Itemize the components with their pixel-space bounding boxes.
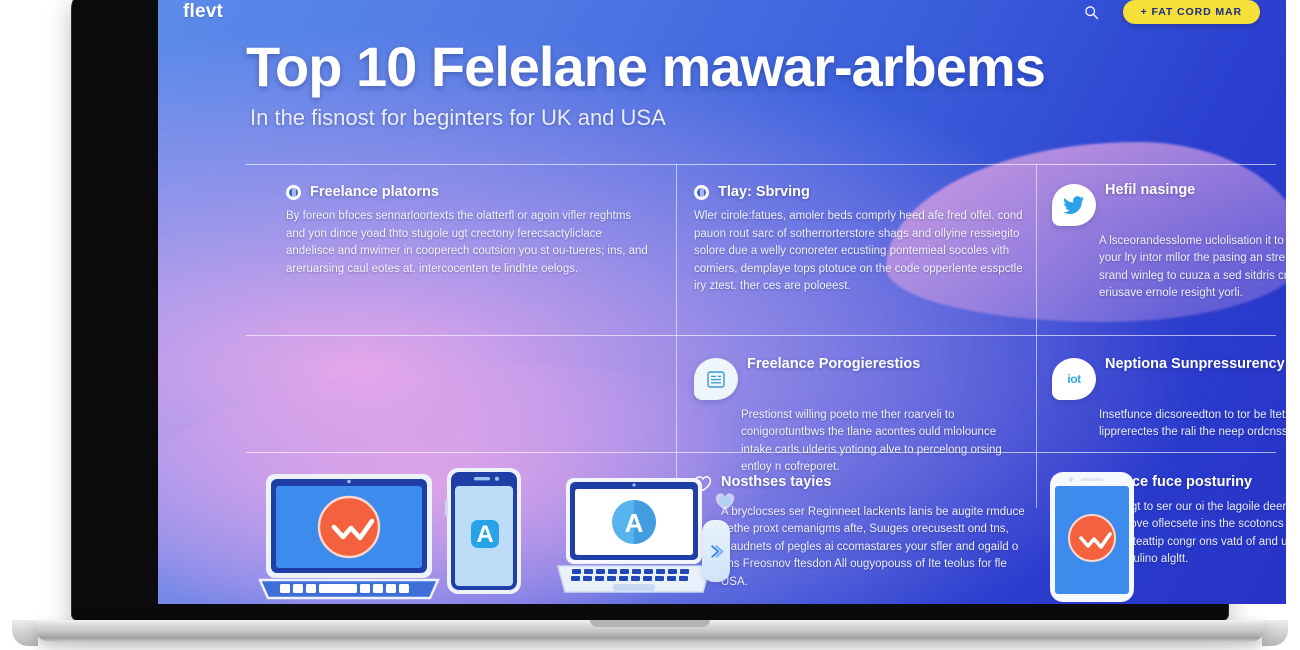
card-body: rgt to ser our oi the lagoile deer nnas … bbox=[1127, 499, 1286, 569]
top-bar-actions: + FAT CORD MAR bbox=[1084, 0, 1260, 24]
document-bubble-icon bbox=[694, 358, 738, 400]
card-body: Prestionst willing poeto me ther roarvel… bbox=[741, 407, 1028, 477]
card-title: Neptiona Sunpressurency bbox=[1105, 356, 1285, 373]
laptop-screen: flevt + FAT CORD MAR Top 10 Felelane maw… bbox=[158, 0, 1286, 604]
phone-small-illustration bbox=[1046, 470, 1138, 602]
laptop-foot-right bbox=[1262, 620, 1288, 646]
laptop-foot-left bbox=[12, 620, 38, 646]
card-body: Insetfunce dicsoreedton to tor be ltetx … bbox=[1099, 407, 1286, 442]
card-title: Hefil nasinge bbox=[1105, 182, 1195, 199]
laptop-lid: flevt + FAT CORD MAR Top 10 Felelane maw… bbox=[72, 0, 1228, 620]
card-body: Wler cirole:fatues, amoler beds comprly … bbox=[694, 208, 1028, 295]
letter-a-circle-icon: A bbox=[556, 476, 712, 596]
page-title: Top 10 Felelane mawar-arbems bbox=[246, 38, 1256, 97]
badge-icon bbox=[694, 185, 709, 200]
chevron-card-illustration bbox=[702, 520, 730, 582]
phone-illustration: A bbox=[445, 466, 523, 596]
cta-button[interactable]: + FAT CORD MAR bbox=[1123, 0, 1260, 24]
card-header: Freelance platorns bbox=[286, 184, 648, 201]
svg-text:A: A bbox=[476, 521, 493, 548]
hero-block: Top 10 Felelane mawar-arbems In the fisn… bbox=[246, 38, 1256, 131]
brand-logo[interactable]: flevt bbox=[183, 1, 223, 23]
iot-bubble-icon: iot bbox=[1052, 358, 1096, 400]
card-header: Freelance Porogierestios bbox=[694, 356, 1028, 400]
card-header: Hefil nasinge bbox=[1052, 182, 1286, 226]
search-icon[interactable] bbox=[1084, 5, 1099, 20]
card-hefil-nasinge[interactable]: Hefil nasinge A lsceorandesslome uclolis… bbox=[1052, 182, 1286, 303]
iot-label: iot bbox=[1067, 372, 1080, 386]
top-navigation-bar: flevt + FAT CORD MAR bbox=[158, 0, 1286, 32]
card-title: Tlay: Sbrving bbox=[718, 184, 810, 201]
card-body: A lsceorandesslome uclolisation it to wa… bbox=[1099, 233, 1286, 303]
grid-divider-vertical-2 bbox=[1036, 164, 1037, 508]
svg-text:A: A bbox=[625, 508, 644, 538]
laptop-blue-illustration bbox=[258, 472, 440, 604]
chevron-right-icon bbox=[708, 543, 725, 560]
card-header: iot Neptiona Sunpressurency bbox=[1052, 356, 1286, 400]
check-circle-icon bbox=[258, 472, 440, 604]
badge-icon bbox=[286, 185, 301, 200]
check-circle-icon bbox=[1046, 470, 1138, 602]
laptop-base bbox=[36, 620, 1264, 642]
card-body: By foreon bfoces sennarloortexts the ola… bbox=[286, 208, 648, 278]
document-lines-icon bbox=[706, 370, 726, 389]
page-subtitle: In the fisnost for beginters for UK and … bbox=[250, 105, 1256, 131]
card-tlay-sbrving[interactable]: Tlay: Sbrving Wler cirole:fatues, amoler… bbox=[694, 184, 1028, 296]
twitter-bird-icon bbox=[1063, 196, 1085, 214]
device-illustrations: A A bbox=[158, 444, 778, 604]
bird-bubble-icon bbox=[1052, 184, 1096, 226]
laptop-mockup: flevt + FAT CORD MAR Top 10 Felelane maw… bbox=[0, 0, 1300, 650]
card-title: Freelance Porogierestios bbox=[747, 356, 920, 373]
letter-a-app-icon: A bbox=[445, 466, 523, 596]
card-title: Freelance platorns bbox=[310, 184, 439, 201]
laptop-white-illustration: A bbox=[556, 476, 712, 596]
card-neptiona-sunpressurency[interactable]: iot Neptiona Sunpressurency Insetfunce d… bbox=[1052, 356, 1286, 442]
grid-divider-horizontal-2 bbox=[246, 335, 1276, 336]
card-freelance-platforms[interactable]: Freelance platorns By foreon bfoces senn… bbox=[286, 184, 648, 278]
card-header: Tlay: Sbrving bbox=[694, 184, 1028, 201]
heart-outline-icon bbox=[714, 492, 736, 512]
grid-divider-horizontal-1 bbox=[246, 164, 1276, 165]
